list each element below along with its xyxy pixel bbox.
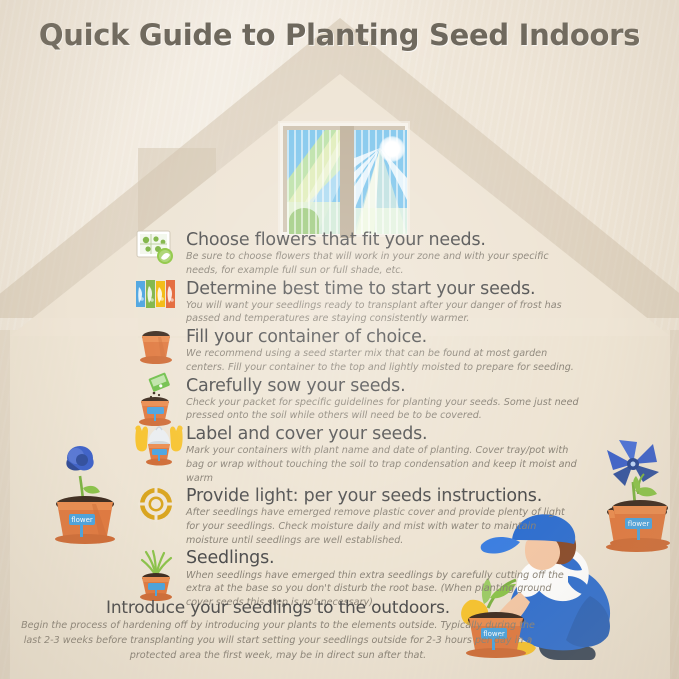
window-mullion xyxy=(340,126,354,238)
step-heading: Provide light: per your seeds instructio… xyxy=(186,486,579,506)
svg-text:flower: flower xyxy=(71,516,93,524)
page-title: Quick Guide to Planting Seed Indoors xyxy=(0,18,679,52)
infographic-poster: Quick Guide to Planting Seed Indoors xyxy=(0,0,679,679)
step-heading: Seedlings. xyxy=(186,548,579,568)
step-item: Choose flowers that fit your needs. Be s… xyxy=(134,230,579,278)
window-blinds-left xyxy=(287,130,340,234)
step-item: Carefully sow your seeds. Check your pac… xyxy=(134,376,579,424)
window-pane-right xyxy=(354,130,407,234)
step-heading: Determine best time to start your seeds. xyxy=(186,279,579,299)
step-item: Determine best time to start your seeds.… xyxy=(134,279,579,327)
step-body: Be sure to choose flowers that will work… xyxy=(186,250,579,277)
step-item: Fill your container of choice. We recomm… xyxy=(134,327,579,375)
window-pane-left xyxy=(287,130,340,234)
steps-list: Choose flowers that fit your needs. Be s… xyxy=(134,230,579,610)
svg-text:flower: flower xyxy=(628,520,650,528)
step-item: Label and cover your seeds. Mark your co… xyxy=(134,424,579,485)
sowing-seeds-icon xyxy=(134,374,182,418)
closing-heading: Introduce your seedlings to the outdoors… xyxy=(18,598,538,618)
closing-body: Begin the process of hardening off by in… xyxy=(18,619,538,664)
step-body: We recommend using a seed starter mix th… xyxy=(186,347,579,374)
step-body: Check your packet for specific guideline… xyxy=(186,396,579,423)
step-heading: Fill your container of choice. xyxy=(186,327,579,347)
step-heading: Label and cover your seeds. xyxy=(186,424,579,444)
left-flower-pot: flower xyxy=(46,418,124,543)
step-heading: Carefully sow your seeds. xyxy=(186,376,579,396)
step-body: Mark your containers with plant name and… xyxy=(186,444,579,485)
seedlings-pot-icon xyxy=(134,546,182,590)
sunlit-window-icon xyxy=(280,123,408,235)
sun-light-icon xyxy=(134,484,182,528)
window-blinds-right xyxy=(354,130,407,234)
step-body: You will want your seedlings ready to tr… xyxy=(186,299,579,326)
step-item: Provide light: per your seeds instructio… xyxy=(134,486,579,547)
seed-catalog-icon xyxy=(134,228,182,272)
seed-packets-icon xyxy=(134,277,182,321)
step-heading: Choose flowers that fit your needs. xyxy=(186,230,579,250)
gloves-covered-pot-icon xyxy=(134,422,182,466)
closing-section: Introduce your seedlings to the outdoors… xyxy=(18,598,538,664)
filled-pot-icon xyxy=(134,325,182,369)
step-body: After seedlings have emerged remove plas… xyxy=(186,506,579,547)
